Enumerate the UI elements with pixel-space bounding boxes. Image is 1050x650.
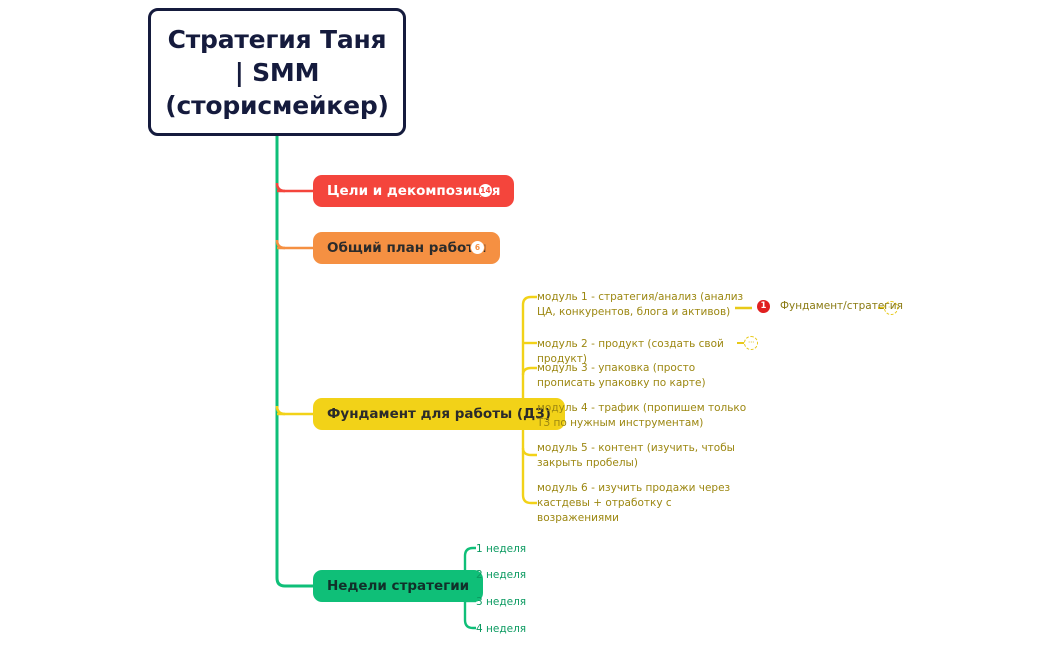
priority-badge-icon[interactable]: 1: [757, 300, 770, 313]
collapsed-children-icon-module-2[interactable]: ···: [744, 336, 758, 350]
branch-label-foundation: Фундамент для работы (ДЗ): [327, 406, 551, 422]
module-item-3[interactable]: модуль 3 - упаковка (просто прописать уп…: [537, 361, 749, 391]
collapse-count-goals: 14: [480, 187, 490, 195]
collapse-count-badge-plan[interactable]: 6: [470, 240, 485, 255]
week-item-3[interactable]: 3 неделя: [476, 596, 526, 609]
side-node-foundation-strategy[interactable]: Фундамент/стратегия: [780, 300, 903, 313]
branch-node-weeks[interactable]: Недели стратегии: [313, 570, 483, 602]
collapse-count-plan: 6: [475, 244, 480, 252]
mindmap-canvas: Стратегия Таня | SMM (сторисмейкер) Цели…: [0, 0, 1050, 650]
branch-label-goals: Цели и декомпозиция: [327, 183, 500, 199]
ellipsis-glyph-module-2: ···: [748, 339, 754, 347]
root-title-line-3: (сторисмейкер): [165, 89, 389, 122]
branch-label-weeks: Недели стратегии: [327, 578, 469, 594]
branch-node-foundation[interactable]: Фундамент для работы (ДЗ): [313, 398, 565, 430]
module-item-4[interactable]: модуль 4 - трафик (пропишем только ТЗ по…: [537, 401, 749, 431]
root-title-line-2: | SMM: [235, 56, 320, 89]
branch-label-plan: Общий план работы: [327, 240, 486, 256]
collapse-count-badge-goals[interactable]: 14: [478, 183, 493, 198]
priority-number: 1: [761, 302, 767, 311]
module-item-6[interactable]: модуль 6 - изучить продажи через кастдев…: [537, 481, 749, 527]
module-item-5[interactable]: модуль 5 - контент (изучить, чтобы закры…: [537, 441, 749, 471]
week-item-4[interactable]: 4 неделя: [476, 623, 526, 636]
module-item-1[interactable]: модуль 1 - стратегия/анализ (анализ ЦА, …: [537, 290, 749, 320]
root-node[interactable]: Стратегия Таня | SMM (сторисмейкер): [148, 8, 406, 136]
week-item-2[interactable]: 2 неделя: [476, 569, 526, 582]
root-title-line-1: Стратегия Таня: [168, 23, 387, 56]
week-item-1[interactable]: 1 неделя: [476, 543, 526, 556]
